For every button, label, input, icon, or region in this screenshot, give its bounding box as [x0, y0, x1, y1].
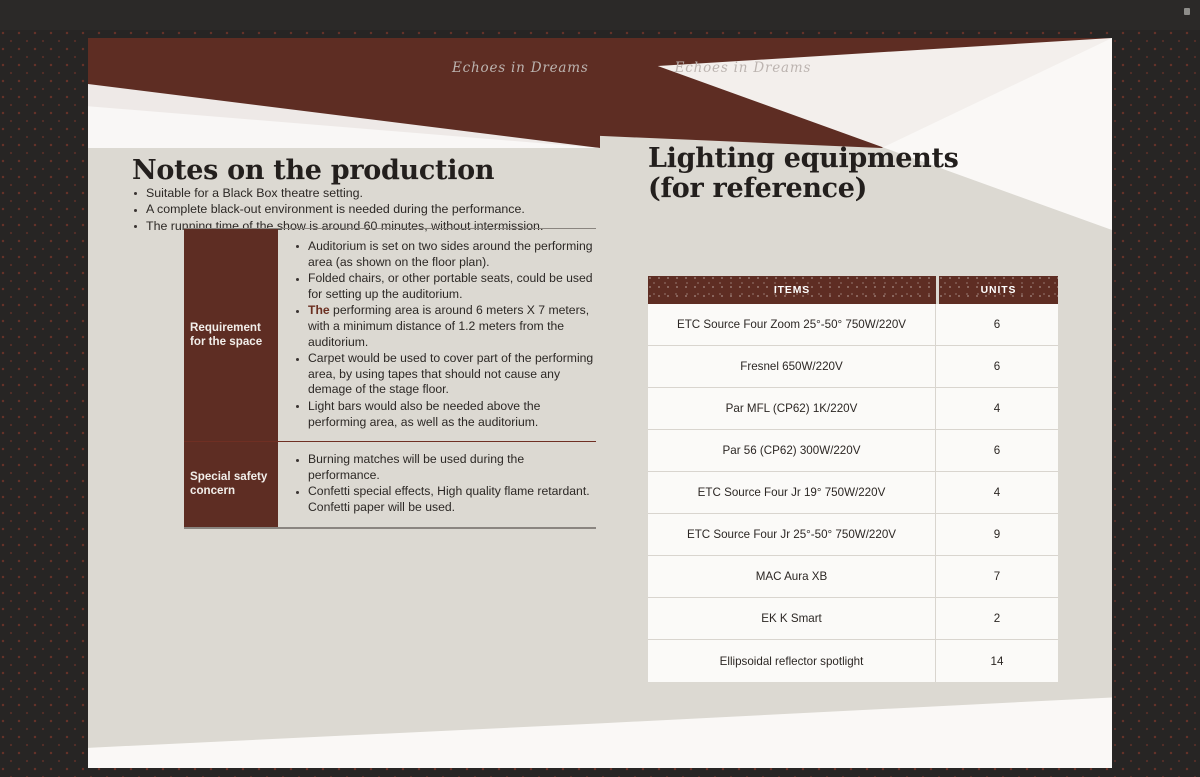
desk-top-strip [0, 0, 1200, 30]
cell-item: Par 56 (CP62) 300W/220V [648, 430, 936, 472]
table-row: Requirement for the space Auditorium is … [184, 229, 596, 441]
brand-header-row: Echoes in Dreams Echoes in Dreams [88, 60, 1112, 76]
table-row: MAC Aura XB7 [648, 556, 1058, 598]
table-row: Par MFL (CP62) 1K/220V4 [648, 388, 1058, 430]
requirements-table: Requirement for the space Auditorium is … [184, 228, 596, 529]
app-viewport: Echoes in Dreams Echoes in Dreams Notes … [0, 0, 1200, 777]
list-item: Auditorium is set on two sides around th… [294, 239, 596, 270]
table-row: ETC Source Four Jr 25°-50° 750W/220V9 [648, 514, 1058, 556]
lighting-equipment-table: ITEMS UNITS ETC Source Four Zoom 25°-50°… [648, 276, 1058, 682]
list-item: Burning matches will be used during the … [294, 452, 596, 483]
scroll-indicator-dot[interactable] [1184, 8, 1190, 15]
table-header-row: ITEMS UNITS [648, 276, 1058, 304]
list-item-rest: performing area is around 6 meters X 7 m… [308, 303, 589, 348]
cell-item: MAC Aura XB [648, 556, 936, 598]
page-title-lighting: Lighting equipments (for reference) [648, 144, 1078, 204]
cell-item: Par MFL (CP62) 1K/220V [648, 388, 936, 430]
table-row: ETC Source Four Jr 19° 750W/220V4 [648, 472, 1058, 514]
requirement-bullet-list: Burning matches will be used during the … [294, 452, 596, 515]
cell-units: 6 [936, 346, 1058, 388]
page-title-notes: Notes on the production [132, 156, 602, 186]
cell-units: 6 [936, 304, 1058, 346]
table-row: Fresnel 650W/220V6 [648, 346, 1058, 388]
requirement-label-safety: Special safety concern [184, 442, 278, 526]
cell-units: 6 [936, 430, 1058, 472]
cell-units: 4 [936, 388, 1058, 430]
list-item: A complete black-out environment is need… [132, 202, 602, 218]
cell-item: ETC Source Four Zoom 25°-50° 750W/220V [648, 304, 936, 346]
right-column: Lighting equipments (for reference) ITEM… [648, 144, 1078, 204]
list-item: Carpet would be used to cover part of th… [294, 351, 596, 398]
table-rule-bottom [184, 527, 596, 529]
table-row: Special safety concern Burning matches w… [184, 442, 596, 526]
brand-title-secondary: Echoes in Dreams [675, 60, 812, 76]
table-row: ETC Source Four Zoom 25°-50° 750W/220V6 [648, 304, 1058, 346]
list-item: Suitable for a Black Box theatre setting… [132, 186, 602, 202]
cell-units: 9 [936, 514, 1058, 556]
highlight-word: The [308, 303, 330, 317]
requirement-body-space: Auditorium is set on two sides around th… [278, 229, 596, 441]
cell-item: Fresnel 650W/220V [648, 346, 936, 388]
table-row: EK K Smart2 [648, 598, 1058, 640]
cell-units: 7 [936, 556, 1058, 598]
table-body: ETC Source Four Zoom 25°-50° 750W/220V6F… [648, 304, 1058, 682]
cell-units: 14 [936, 640, 1058, 682]
left-column: Notes on the production Suitable for a B… [132, 156, 602, 235]
slide-content: Notes on the production Suitable for a B… [88, 38, 1112, 768]
title-line-1: Lighting equipments [648, 143, 959, 174]
column-header-units: UNITS [939, 276, 1058, 304]
cell-item: ETC Source Four Jr 25°-50° 750W/220V [648, 514, 936, 556]
brand-title-primary: Echoes in Dreams [452, 60, 589, 76]
table-row: Par 56 (CP62) 300W/220V6 [648, 430, 1058, 472]
cell-item: ETC Source Four Jr 19° 750W/220V [648, 472, 936, 514]
title-line-2: (for reference) [648, 173, 867, 204]
requirement-body-safety: Burning matches will be used during the … [278, 442, 596, 526]
list-item: Light bars would also be needed above th… [294, 399, 596, 430]
cell-units: 2 [936, 598, 1058, 640]
cell-item: EK K Smart [648, 598, 936, 640]
cell-units: 4 [936, 472, 1058, 514]
requirement-label-space: Requirement for the space [184, 229, 278, 441]
requirement-bullet-list: Auditorium is set on two sides around th… [294, 239, 596, 430]
table-row: Ellipsoidal reflector spotlight14 [648, 640, 1058, 682]
list-item: Folded chairs, or other portable seats, … [294, 271, 596, 302]
list-item-highlighted: The performing area is around 6 meters X… [294, 303, 596, 350]
presentation-slide: Echoes in Dreams Echoes in Dreams Notes … [88, 38, 1112, 768]
cell-item: Ellipsoidal reflector spotlight [648, 640, 936, 682]
list-item: Confetti special effects, High quality f… [294, 484, 596, 515]
column-header-items: ITEMS [648, 276, 936, 304]
